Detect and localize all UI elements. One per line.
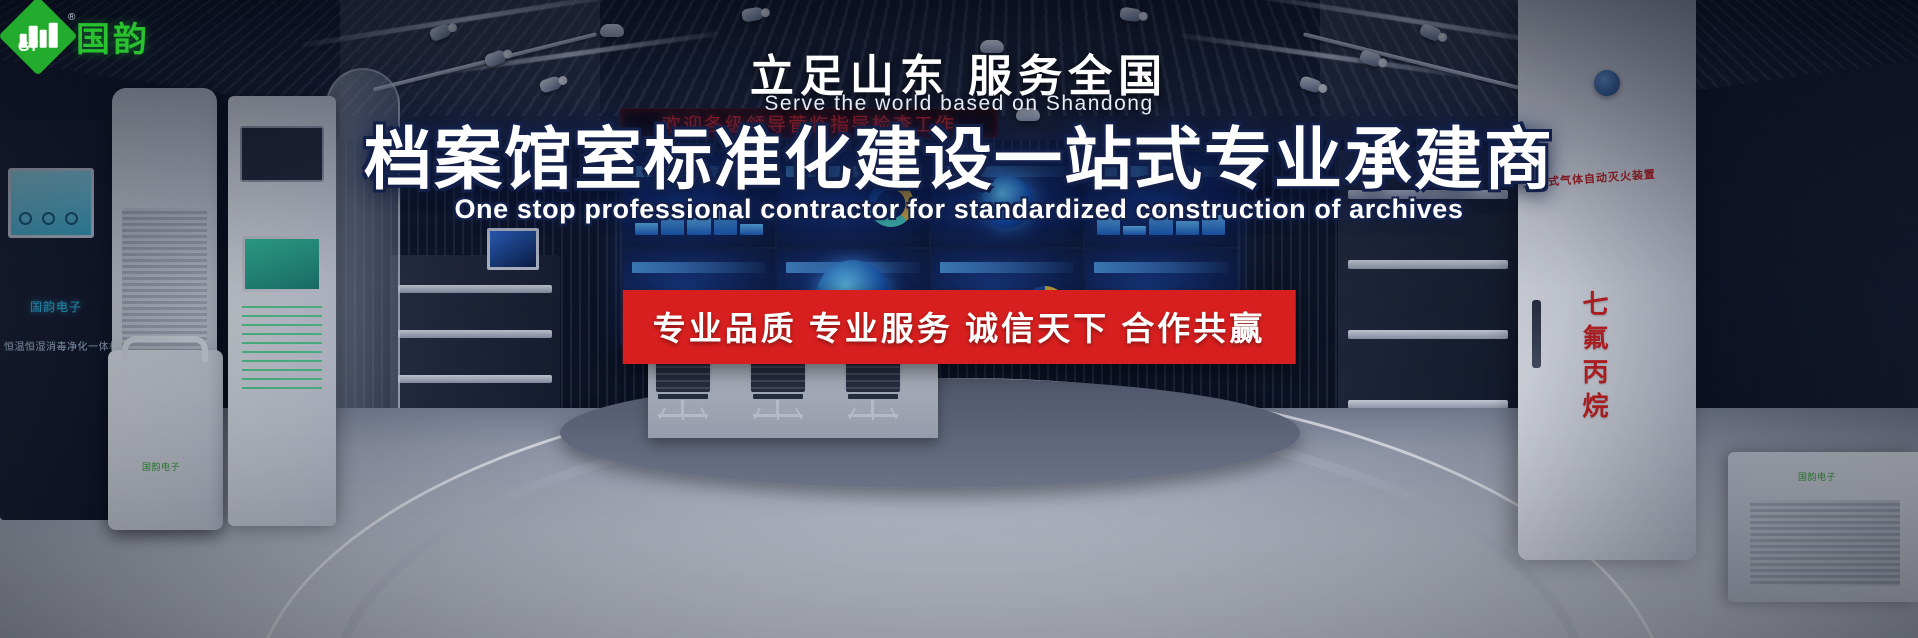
main-headline: 档案馆室标准化建设一站式专业承建商 xyxy=(0,126,1918,194)
text-overlay: GY ® 国韵 立足山东 服务全国 Serve the world based … xyxy=(0,0,1918,638)
top-subtitle: Serve the world based on Shandong xyxy=(0,92,1918,116)
main-subtitle: One stop professional contractor for sta… xyxy=(0,194,1918,225)
hero-banner: 欢迎各级领导菅临指导检查工作 xyxy=(0,0,1918,638)
slogan-banner[interactable]: 专业品质 专业服务 诚信天下 合作共赢 xyxy=(623,290,1296,364)
registered-mark: ® xyxy=(68,12,75,23)
